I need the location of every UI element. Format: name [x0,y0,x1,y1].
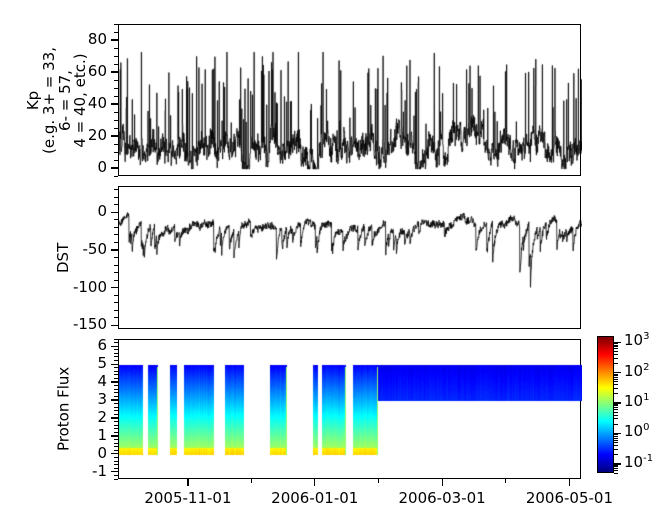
colorbar-tick-label: 101 [624,392,649,410]
colorbar-tick-minor [614,404,618,405]
scientific-figure: Kp(e.g. 3+ = 33,6- = 57,4 = 40, etc.) 02… [0,0,665,523]
colorbar-tick-minor [614,354,618,355]
colorbar-tick-minor [614,381,618,382]
colorbar-tick-minor [614,348,618,349]
colorbar-mantissa: 10 [624,362,643,380]
colorbar-tick-minor [614,346,618,347]
colorbar-exponent: -1 [643,453,653,464]
colorbar-tick-minor [614,438,618,439]
colorbar-mantissa: 10 [624,422,643,440]
colorbar-mantissa: 10 [624,331,643,349]
colorbar-tick-minor [614,445,618,446]
colorbar-tick-minor [614,465,618,466]
colorbar-exponent: 2 [643,362,649,373]
colorbar-exponent: 0 [643,422,649,433]
colorbar-tick-minor [614,440,618,441]
colorbar-tick-minor [614,412,618,413]
colorbar-tick-label: 103 [624,331,649,349]
colorbar-tick-minor [614,343,618,344]
colorbar-tick-minor [614,358,618,359]
colorbar-tick-minor [614,393,618,394]
colorbar-tick-minor [614,454,618,455]
colorbar-tick-minor [614,418,618,419]
colorbar-tick-minor [614,434,618,435]
colorbar-tick-minor [614,466,618,467]
colorbar-tick-minor [614,468,618,469]
colorbar-tick-minor [614,379,618,380]
colorbar-tick-minor [614,473,618,474]
colorbar-exponent: 3 [643,331,649,342]
colorbar-tick-minor [614,388,618,389]
colorbar-tick-minor [614,375,618,376]
colorbar-tick-minor [614,377,618,378]
colorbar-tick-minor [614,345,618,346]
colorbar-tick-minor [614,409,618,410]
colorbar-tick-minor [614,424,618,425]
colorbar-tick-label: 100 [624,422,649,440]
colorbar: 10-1100101102103 [0,0,665,523]
colorbar-mantissa: 10 [624,392,643,410]
colorbar-exponent: 1 [643,392,649,403]
colorbar-gradient [597,336,614,473]
colorbar-tick-minor [614,407,618,408]
colorbar-tick-label: 102 [624,362,649,380]
colorbar-tick-minor [614,470,618,471]
colorbar-tick-minor [614,384,618,385]
colorbar-tick-minor [614,449,618,450]
colorbar-tick-minor [614,415,618,416]
colorbar-tick-minor [614,374,618,375]
colorbar-tick-minor [614,436,618,437]
colorbar-tick-minor [614,442,618,443]
colorbar-tick-minor [614,405,618,406]
colorbar-mantissa: 10 [624,453,643,471]
colorbar-tick-label: 10-1 [624,453,653,471]
colorbar-tick-minor [614,351,618,352]
colorbar-tick-minor [614,363,618,364]
